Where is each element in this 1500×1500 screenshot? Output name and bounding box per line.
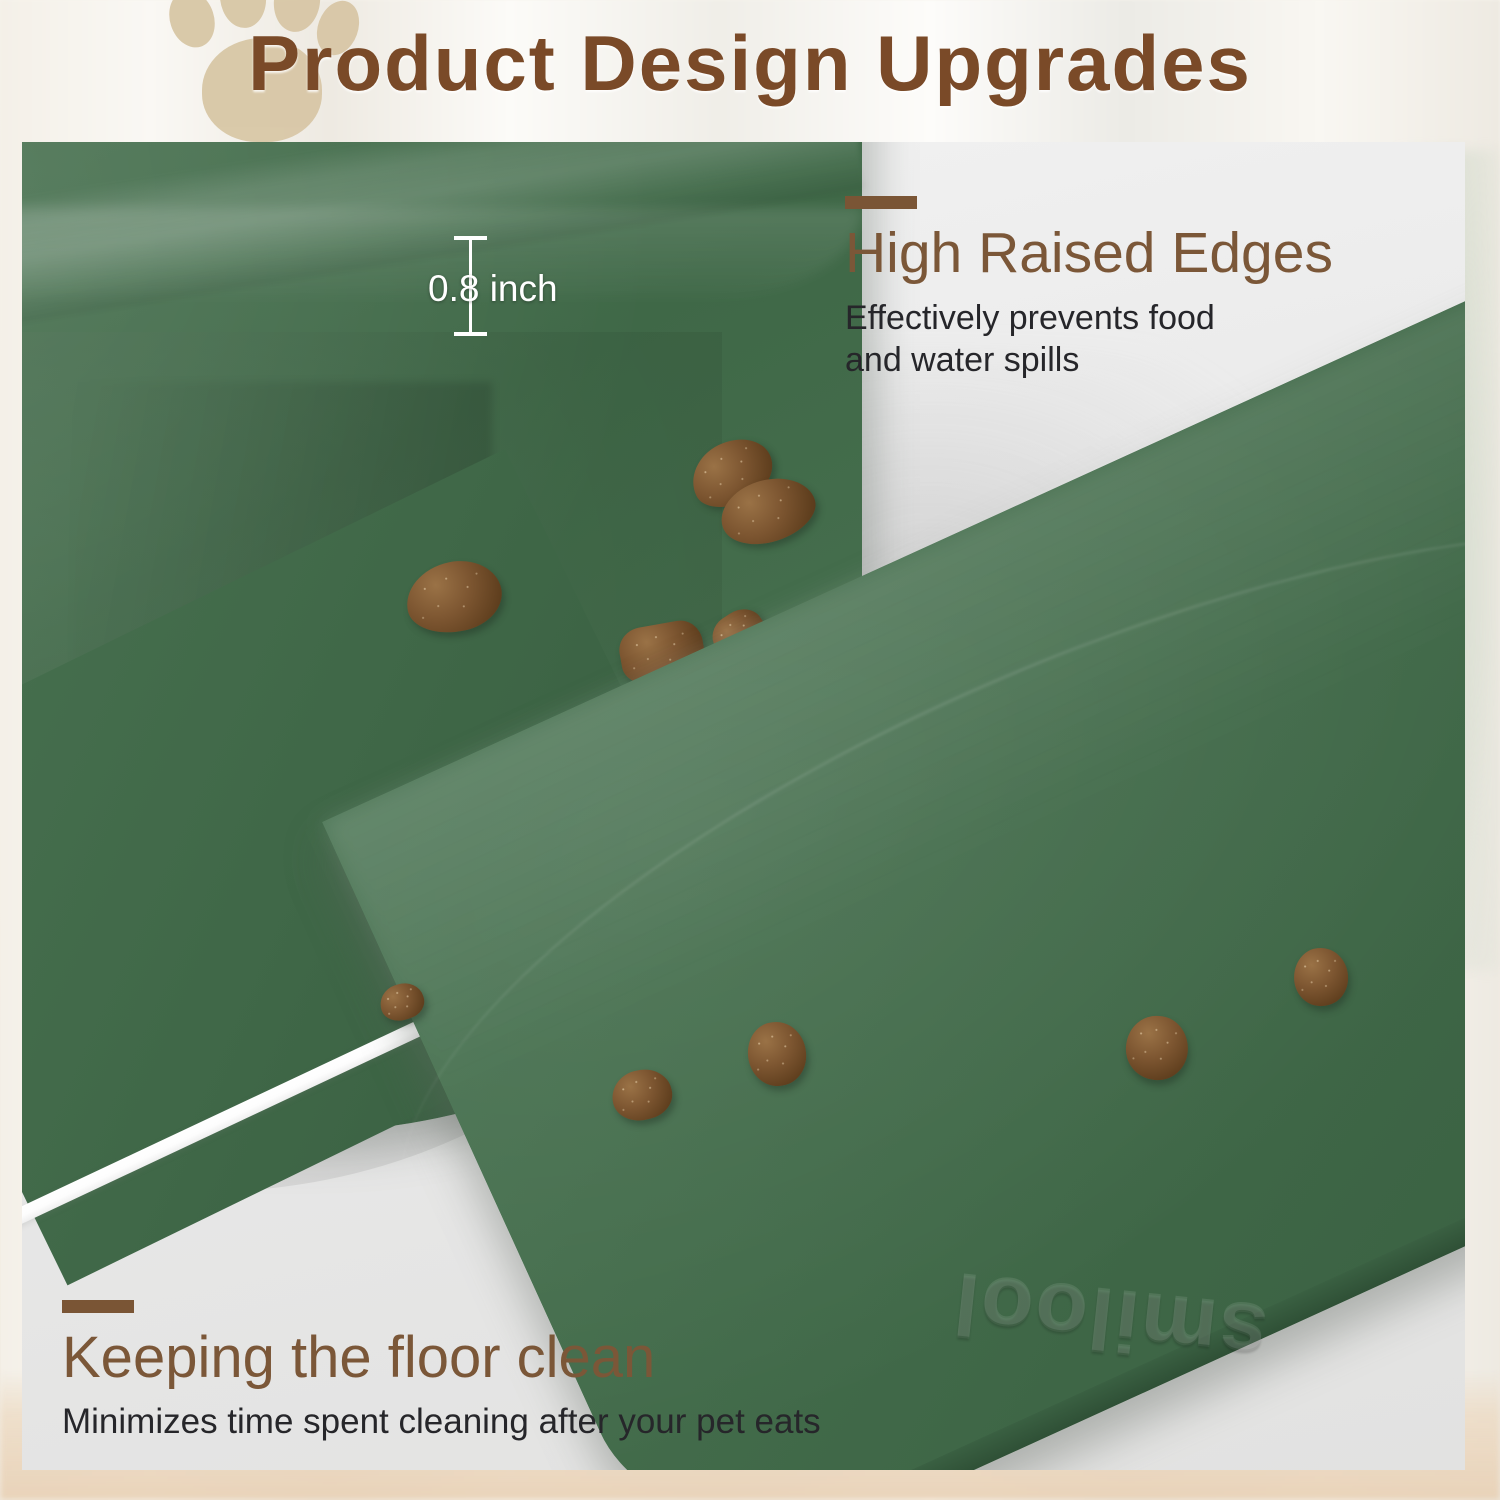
callout-subtitle-line: Effectively prevents food: [845, 297, 1333, 339]
accent-bar-icon: [845, 196, 917, 209]
callout-subtitle: Effectively prevents food and water spil…: [845, 297, 1333, 381]
callout-subtitle-line: and water spills: [845, 339, 1333, 381]
callout-title: High Raised Edges: [845, 223, 1333, 285]
page-title: Product Design Upgrades: [0, 18, 1500, 109]
header-band: Product Design Upgrades: [0, 0, 1500, 142]
callout-high-raised-edges: High Raised Edges Effectively prevents f…: [845, 196, 1333, 381]
accent-bar-icon: [62, 1300, 134, 1313]
callout-title: Keeping the floor clean: [62, 1327, 821, 1390]
callout-keeping-floor-clean: Keeping the floor clean Minimizes time s…: [62, 1300, 821, 1443]
callout-subtitle: Minimizes time spent cleaning after your…: [62, 1400, 821, 1443]
callout-subtitle-line: Minimizes time spent cleaning after your…: [62, 1400, 821, 1443]
measurement-label: 0.8 inch: [428, 268, 558, 310]
infographic-canvas: Product Design Upgrades: [0, 0, 1500, 1500]
